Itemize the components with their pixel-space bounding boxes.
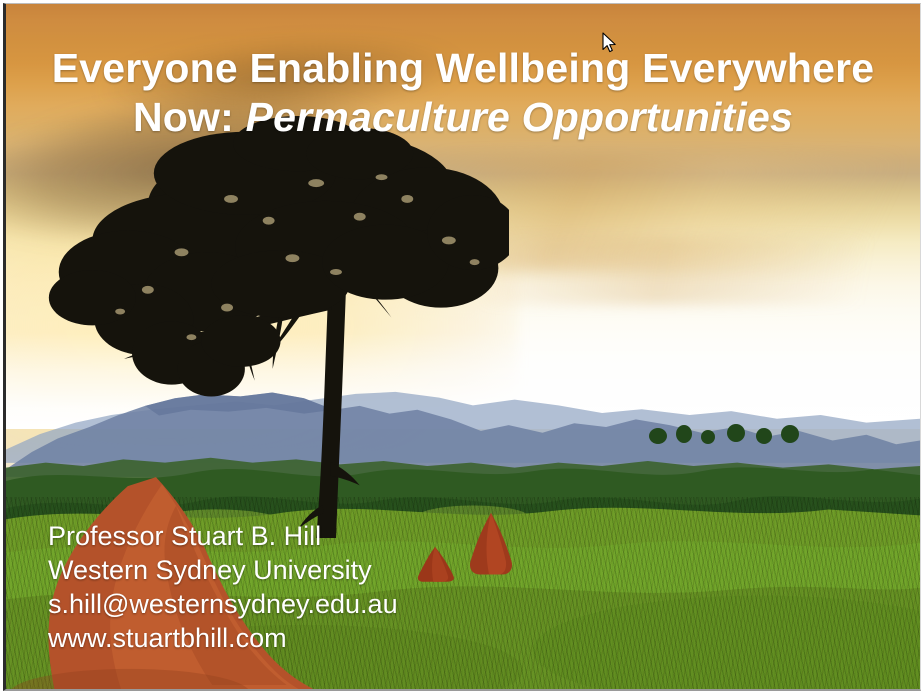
presenter-website[interactable]: www.stuartbhill.com	[48, 621, 398, 655]
title-line-2-emphasis: Permaculture Opportunities	[246, 94, 793, 140]
presenter-affiliation: Western Sydney University	[48, 553, 398, 587]
presenter-email[interactable]: s.hill@westernsydney.edu.au	[48, 587, 398, 621]
slide-title: Everyone Enabling Wellbeing Everywhere N…	[6, 44, 920, 142]
termite-mound-large	[463, 511, 519, 573]
title-line-2-prefix: Now:	[133, 94, 246, 140]
termite-mound-small	[413, 545, 459, 581]
horizon-trees	[646, 418, 806, 444]
presenter-name: Professor Stuart B. Hill	[48, 519, 398, 553]
title-line-1: Everyone Enabling Wellbeing Everywhere	[52, 45, 875, 91]
slide-frame: Everyone Enabling Wellbeing Everywhere N…	[3, 3, 921, 691]
presenter-credit: Professor Stuart B. Hill Western Sydney …	[48, 519, 398, 655]
title-line-2: Now: Permaculture Opportunities	[6, 93, 920, 142]
cloud-wisp-lower	[481, 237, 883, 306]
